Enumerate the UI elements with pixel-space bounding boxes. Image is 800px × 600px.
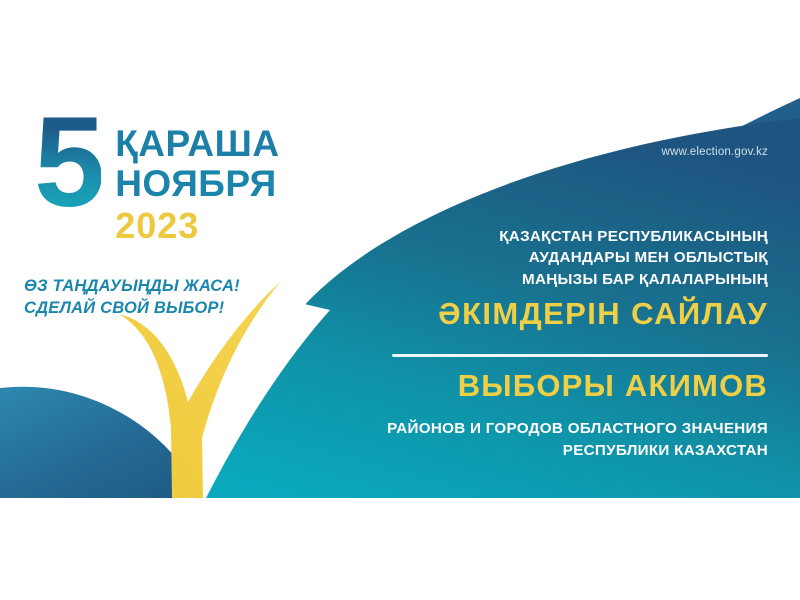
- section-divider: [392, 354, 768, 357]
- kazakh-subtitle-line-2: АУДАНДАРЫ МЕН ОБЛЫСТЫҚ: [376, 247, 768, 268]
- slogan-kazakh: ӨЗ ТАҢДАУЫҢДЫ ЖАСА!: [24, 276, 324, 298]
- day-number: 5: [34, 108, 101, 218]
- slogan-russian: СДЕЛАЙ СВОЙ ВЫБОР!: [24, 298, 324, 320]
- month-year-stack: ҚАРАША НОЯБРЯ 2023: [115, 108, 279, 244]
- website-url[interactable]: www.election.gov.kz: [662, 146, 769, 158]
- kazakh-subtitle-line-1: ҚАЗАҚСТАН РЕСПУБЛИКАСЫНЫҢ: [376, 226, 768, 247]
- month-kazakh: ҚАРАША: [115, 124, 279, 164]
- russian-headline: ВЫБОРЫ АКИМОВ: [360, 370, 768, 401]
- slogan-block: ӨЗ ТАҢДАУЫҢДЫ ЖАСА! СДЕЛАЙ СВОЙ ВЫБОР!: [24, 276, 324, 320]
- year: 2023: [115, 208, 279, 244]
- russian-subtitle-line-2: РЕСПУБЛИКИ КАЗАХСТАН: [320, 440, 768, 462]
- kazakh-headline: ӘКІМДЕРІН САЙЛАУ: [360, 298, 768, 329]
- kazakh-subtitle-line-3: МАҢЫЗЫ БАР ҚАЛАЛАРЫНЫҢ: [376, 269, 768, 290]
- election-banner: 5 ҚАРАША НОЯБРЯ 2023 ӨЗ ТАҢДАУЫҢДЫ ЖАСА!…: [0, 0, 800, 600]
- russian-subtitle-line-1: РАЙОНОВ И ГОРОДОВ ОБЛАСТНОГО ЗНАЧЕНИЯ: [320, 418, 768, 440]
- russian-subtitle: РАЙОНОВ И ГОРОДОВ ОБЛАСТНОГО ЗНАЧЕНИЯ РЕ…: [320, 418, 768, 461]
- date-row: 5 ҚАРАША НОЯБРЯ 2023: [34, 108, 280, 244]
- left-date-block: 5 ҚАРАША НОЯБРЯ 2023 ӨЗ ТАҢДАУЫҢДЫ ЖАСА!…: [0, 98, 330, 498]
- kazakh-subtitle: ҚАЗАҚСТАН РЕСПУБЛИКАСЫНЫҢ АУДАНДАРЫ МЕН …: [376, 226, 768, 290]
- month-russian: НОЯБРЯ: [115, 164, 279, 204]
- right-content-block: www.election.gov.kz ҚАЗАҚСТАН РЕСПУБЛИКА…: [320, 98, 800, 498]
